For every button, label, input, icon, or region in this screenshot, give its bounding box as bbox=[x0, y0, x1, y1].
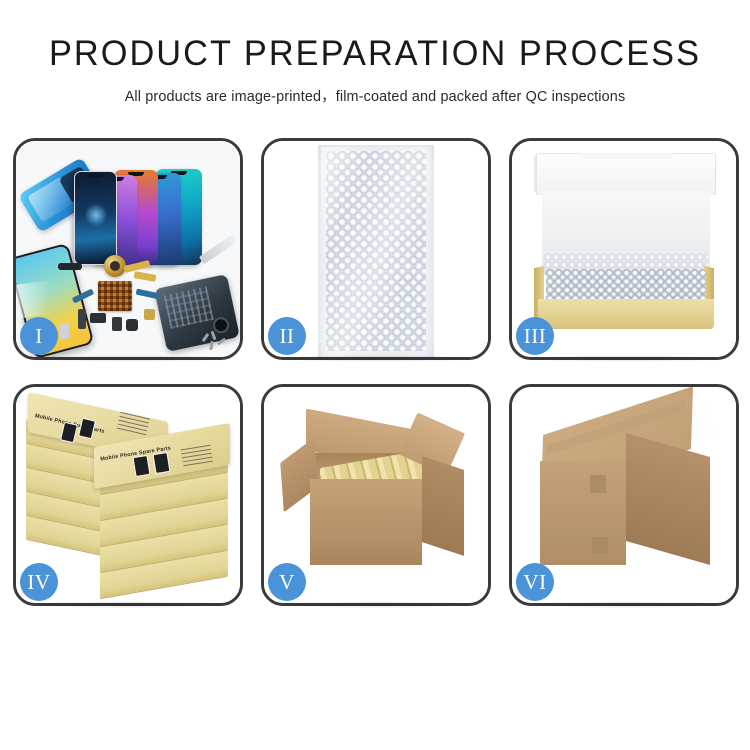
step-badge-6: VI bbox=[516, 563, 554, 601]
box-artwork-phone-icon bbox=[153, 452, 171, 474]
carton-front-face bbox=[310, 479, 422, 565]
open-shipping-carton bbox=[280, 407, 478, 585]
process-step-4: Mobile Phone Spare Parts Mobile Phone Sp… bbox=[13, 384, 243, 606]
process-step-1: I bbox=[13, 138, 243, 360]
box-lid-back bbox=[536, 153, 716, 195]
carton-tape-patch bbox=[590, 475, 606, 493]
screw-icon bbox=[217, 338, 226, 346]
carton-side-face bbox=[626, 433, 710, 565]
box-stack: Mobile Phone Spare Parts Mobile Phone Sp… bbox=[22, 401, 234, 597]
small-component-part bbox=[90, 313, 106, 323]
small-component-part bbox=[78, 309, 86, 329]
page-title: PRODUCT PREPARATION PROCESS bbox=[8, 34, 743, 74]
box-front-panel bbox=[538, 299, 714, 329]
step-badge-4: IV bbox=[20, 563, 58, 601]
box-bubble-wrapped-contents bbox=[546, 269, 706, 303]
small-component-part bbox=[144, 309, 155, 320]
process-step-6: VI bbox=[509, 384, 739, 606]
box-artwork-phone-icon bbox=[133, 455, 151, 477]
phone-notch-icon bbox=[88, 174, 104, 178]
vibration-motor-part bbox=[104, 255, 126, 277]
carton-tape-patch bbox=[592, 537, 608, 553]
screw-icon bbox=[209, 341, 214, 350]
process-step-3: III bbox=[509, 138, 739, 360]
step-badge-3: III bbox=[516, 317, 554, 355]
carton-side-face bbox=[422, 456, 464, 556]
process-step-grid: I II bbox=[13, 138, 741, 606]
small-component-part bbox=[112, 317, 122, 331]
step-badge-2: II bbox=[268, 317, 306, 355]
page-subtitle: All products are image-printed，film-coat… bbox=[0, 85, 750, 106]
sealed-shipping-carton bbox=[534, 409, 722, 585]
speaker-part bbox=[58, 263, 82, 270]
header: PRODUCT PREPARATION PROCESS All products… bbox=[0, 0, 750, 106]
screws-group bbox=[202, 329, 232, 351]
screw-icon bbox=[211, 331, 217, 340]
process-step-5: V bbox=[261, 384, 491, 606]
phone-screen-5 bbox=[74, 171, 117, 265]
step-badge-1: I bbox=[20, 317, 58, 355]
screw-icon bbox=[202, 333, 210, 342]
copper-mesh-part bbox=[98, 281, 132, 311]
infographic-page: PRODUCT PREPARATION PROCESS All products… bbox=[0, 0, 750, 750]
small-component-part bbox=[126, 319, 138, 331]
process-step-2: II bbox=[261, 138, 491, 360]
small-component-part bbox=[60, 323, 69, 339]
step-badge-5: V bbox=[268, 563, 306, 601]
carton-front-face bbox=[540, 461, 626, 565]
bubble-wrap-bubbles bbox=[326, 151, 426, 351]
